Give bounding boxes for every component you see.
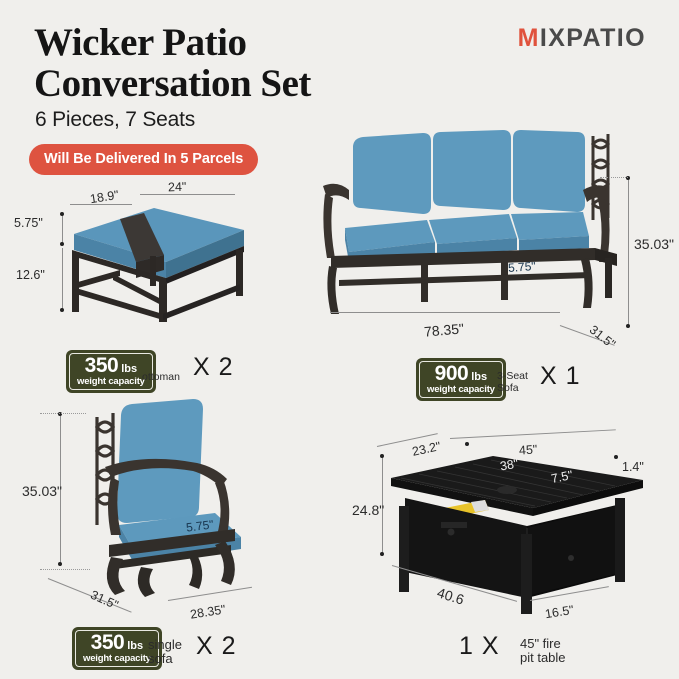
ottoman-weight-capacity-label: weight capacity bbox=[77, 376, 145, 387]
sofa-weight-capacity-label: weight capacity bbox=[427, 384, 495, 395]
firepit-top-thickness-label: 1.4" bbox=[622, 460, 644, 474]
sofa-name-line2: Sofa bbox=[497, 382, 528, 394]
page-subtitle: 6 Pieces, 7 Seats bbox=[35, 108, 195, 132]
single-sofa-name-label: single sofa bbox=[148, 638, 182, 666]
sofa-quantity-label: X 1 bbox=[540, 362, 581, 391]
ottoman-cushion-line bbox=[62, 214, 63, 244]
single-sofa-name-line2: sofa bbox=[148, 652, 182, 666]
delivery-badge: Will Be Delivered In 5 Parcels bbox=[29, 144, 258, 175]
single-sofa-weight-number: 350 bbox=[91, 632, 125, 653]
page-title-line1: Wicker Patio bbox=[34, 21, 246, 64]
fire-pit-table-drawing bbox=[375, 450, 655, 615]
single-sofa-drawing bbox=[75, 395, 275, 605]
sofa-cushion-thickness-label: 5.75" bbox=[508, 259, 537, 275]
sofa-weight-unit: lbs bbox=[471, 371, 487, 383]
sofa-height-line bbox=[628, 178, 629, 328]
firepit-height-label: 24.8" bbox=[352, 502, 384, 518]
page-title-line2: Conversation Set bbox=[34, 63, 414, 104]
ottoman-weight-number: 350 bbox=[85, 355, 119, 376]
single-sofa-name-line1: single bbox=[148, 638, 182, 652]
firepit-name-line2: pit table bbox=[520, 651, 566, 665]
single-sofa-weight-unit: lbs bbox=[127, 640, 143, 652]
ottoman-width-label: 24" bbox=[168, 180, 187, 195]
firepit-base-depth-label: 16.5" bbox=[544, 603, 575, 621]
sofa-weight-number: 900 bbox=[435, 363, 469, 384]
ottoman-weight-unit: lbs bbox=[121, 363, 137, 375]
sofa-name-label: 3-Seat Sofa bbox=[497, 370, 528, 394]
sofa-height-label: 35.03" bbox=[634, 236, 674, 252]
ottoman-quantity-label: X 2 bbox=[193, 353, 234, 382]
firepit-quantity-label: 1 X bbox=[459, 632, 500, 661]
firepit-name-label: 45" fire pit table bbox=[520, 637, 566, 665]
firepit-top-width-label: 45" bbox=[519, 442, 538, 457]
page-title: Wicker Patio Conversation Set bbox=[34, 22, 414, 104]
ottoman-height-label: 12.6" bbox=[16, 268, 45, 282]
sofa-width-line bbox=[330, 312, 560, 313]
ottoman-drawing bbox=[58, 196, 258, 326]
firepit-top-width-line bbox=[450, 429, 616, 439]
firepit-name-line1: 45" fire bbox=[520, 637, 566, 651]
sofa-drawing bbox=[305, 128, 635, 333]
single-sofa-quantity-label: X 2 bbox=[196, 632, 237, 661]
ottoman-name-label: ottoman bbox=[142, 371, 180, 383]
single-sofa-width-label: 28.35" bbox=[189, 602, 226, 621]
single-sofa-illustration bbox=[75, 395, 265, 600]
single-sofa-weight-capacity-label: weight capacity bbox=[83, 653, 151, 664]
brand-logo: MIXPATIO bbox=[518, 24, 646, 53]
ottoman-width-line bbox=[140, 194, 235, 195]
sofa-name-line1: 3-Seat bbox=[497, 370, 528, 382]
sofa-width-label: 78.35" bbox=[423, 320, 464, 339]
sofa-illustration bbox=[305, 128, 630, 328]
infographic-page: Wicker Patio Conversation Set 6 Pieces, … bbox=[0, 0, 679, 679]
logo-m-mark: M bbox=[518, 24, 540, 53]
single-sofa-height-label: 35.03" bbox=[22, 483, 62, 499]
sofa-weight-badge: 900 lbs weight capacity bbox=[416, 358, 506, 401]
logo-wordmark: IXPATIO bbox=[540, 24, 646, 53]
ottoman-cushion-thickness-label: 5.75" bbox=[14, 216, 43, 230]
ottoman-illustration bbox=[58, 196, 248, 316]
ottoman-height-line bbox=[62, 248, 63, 310]
